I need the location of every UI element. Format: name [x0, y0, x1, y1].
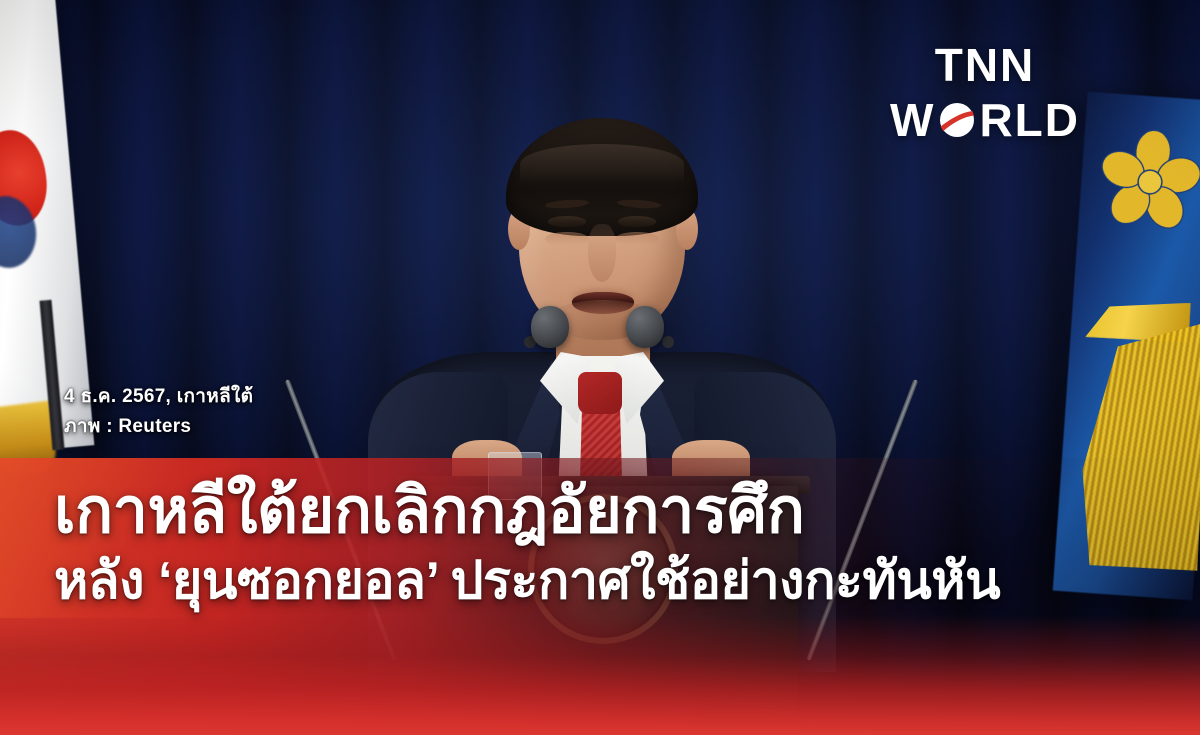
logo-world-rld: RLD	[979, 97, 1080, 143]
news-card: TNN W RLD 4 ธ.ค. 2567, เกาหลีใต้ ภาพ : R…	[0, 0, 1200, 735]
headline: เกาหลีใต้ยกเลิกกฎอัยการศึก หลัง ‘ยุนซอกย…	[54, 476, 1000, 611]
caption-date-location: 4 ธ.ค. 2567, เกาหลีใต้	[64, 382, 253, 412]
photo-caption: 4 ธ.ค. 2567, เกาหลีใต้ ภาพ : Reuters	[64, 382, 253, 443]
caption-credit: ภาพ : Reuters	[64, 412, 253, 442]
headline-line-1: เกาหลีใต้ยกเลิกกฎอัยการศึก	[54, 476, 1000, 547]
logo-world-w: W	[890, 97, 935, 143]
red-bottom-gradient	[0, 615, 1200, 735]
logo-world-text: W RLD	[890, 97, 1080, 143]
logo-tnn-text: TNN	[890, 42, 1080, 88]
logo-globe-o-icon	[937, 100, 977, 140]
tnn-world-logo: TNN W RLD	[890, 42, 1080, 143]
headline-line-2: หลัง ‘ยุนซอกยอล’ ประกาศใช้อย่างกะทันหัน	[54, 551, 1000, 611]
